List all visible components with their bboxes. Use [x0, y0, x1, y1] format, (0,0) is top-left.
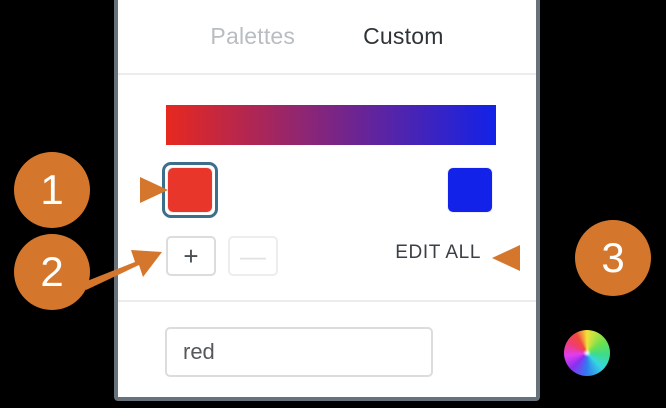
callout-arrow-2 [82, 250, 162, 290]
callout-badge-1: 1 [14, 152, 90, 228]
callout-arrows [0, 0, 666, 408]
callout-badge-2: 2 [14, 234, 90, 310]
callout-arrow-1 [80, 177, 168, 203]
callout-arrow-3 [492, 245, 578, 271]
screenshot-root: Palettes Custom + — EDIT ALL [0, 0, 666, 408]
callout-badge-3: 3 [575, 220, 651, 296]
